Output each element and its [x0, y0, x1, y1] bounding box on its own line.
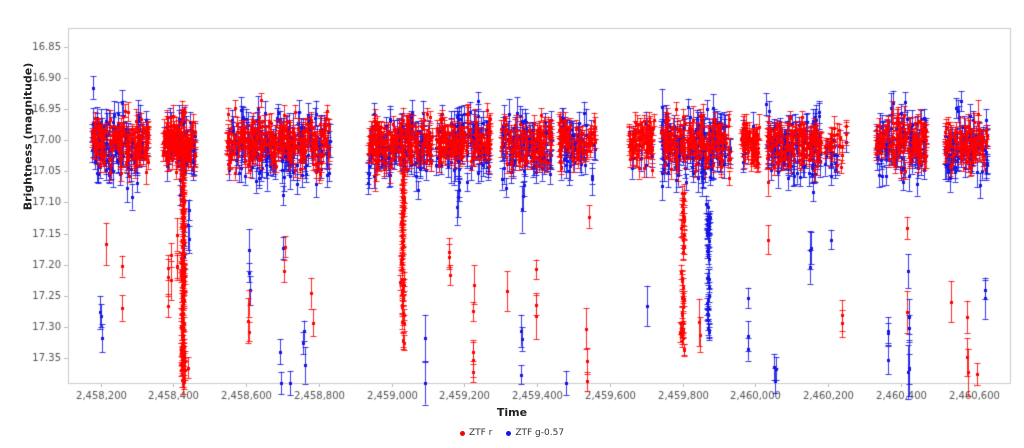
legend-marker-ztf-g: [506, 431, 511, 436]
chart-legend: ZTF r ZTF g-0.57: [0, 428, 1024, 438]
x-axis-label: Time: [0, 406, 1024, 419]
legend-marker-ztf-r: [460, 431, 465, 436]
y-axis-label: Brightness (magnitude): [22, 57, 35, 217]
legend-label-ztf-r: ZTF r: [469, 428, 492, 438]
light-curve-figure: Light Curve for STSP J224502.83+511140.2…: [0, 0, 1024, 448]
legend-item-ztf-r: ZTF r: [460, 428, 492, 438]
legend-label-ztf-g: ZTF g-0.57: [515, 428, 564, 438]
legend-item-ztf-g: ZTF g-0.57: [506, 428, 564, 438]
light-curve-plot-area: [0, 0, 1024, 448]
